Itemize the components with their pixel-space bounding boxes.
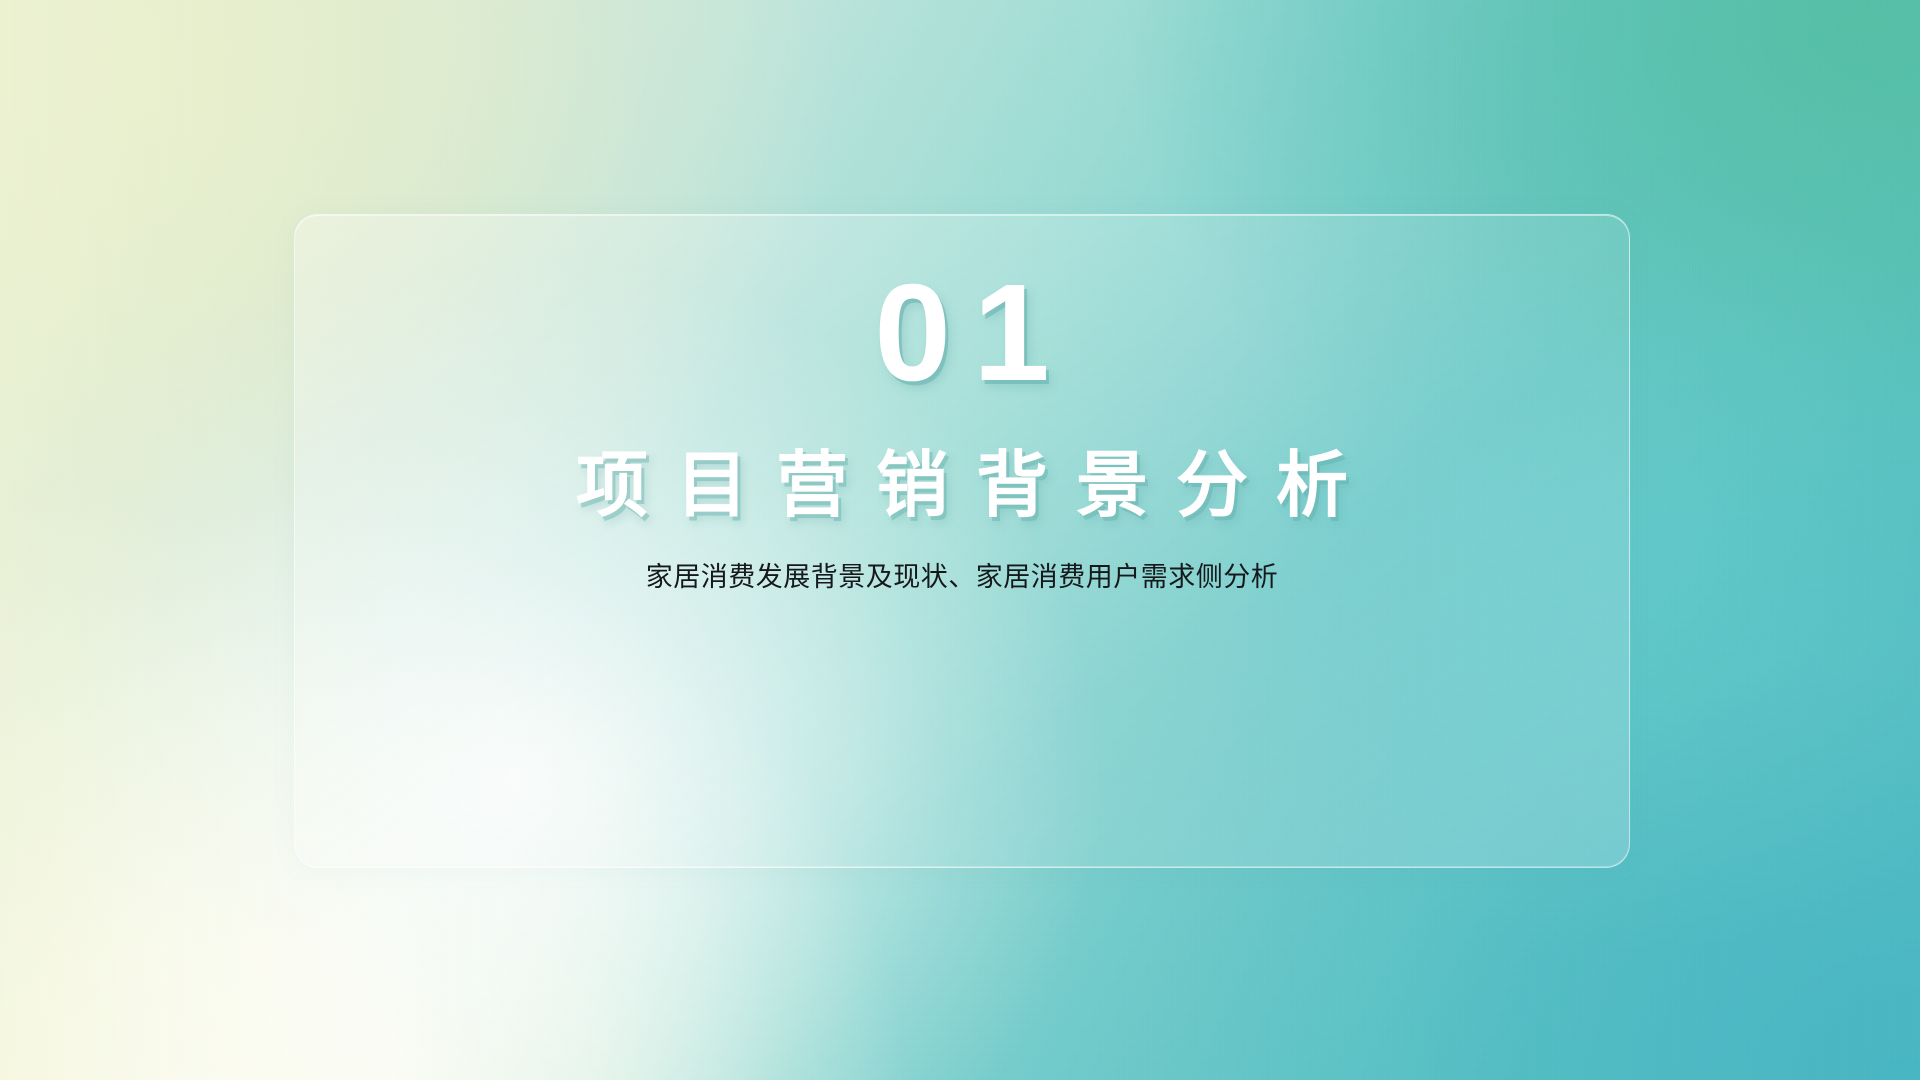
section-number: 01 bbox=[852, 264, 1072, 402]
glass-content-card: 01 项目营销背景分析 家居消费发展背景及现状、家居消费用户需求侧分析 bbox=[294, 214, 1630, 868]
slide-canvas: 01 项目营销背景分析 家居消费发展背景及现状、家居消费用户需求侧分析 bbox=[0, 0, 1920, 1080]
section-title: 项目营销背景分析 bbox=[548, 448, 1376, 524]
section-subtitle: 家居消费发展背景及现状、家居消费用户需求侧分析 bbox=[646, 559, 1279, 597]
